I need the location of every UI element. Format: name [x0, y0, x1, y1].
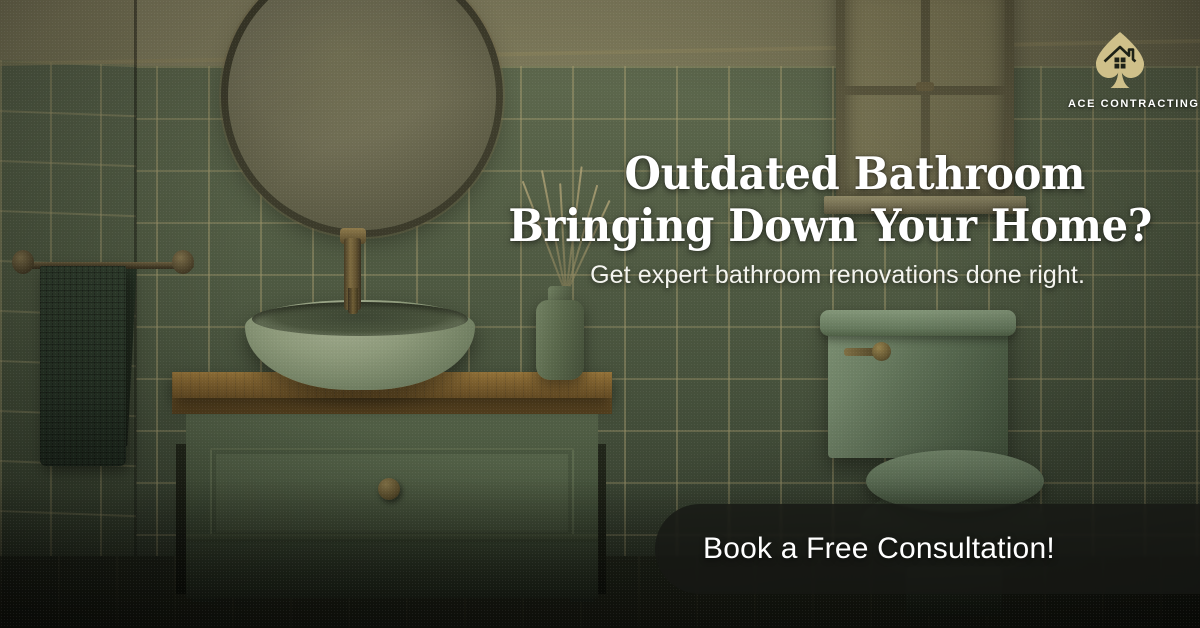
toilet-flush-knob [872, 342, 891, 361]
brand-logo[interactable]: ACE CONTRACTING [1068, 30, 1172, 110]
cta-button[interactable]: Book a Free Consultation! [655, 504, 1200, 594]
toilet-tank [828, 318, 1008, 458]
window-latch [916, 82, 934, 91]
spade-house-logo-icon [1092, 30, 1148, 92]
subheadline: Get expert bathroom renovations done rig… [465, 261, 1085, 290]
cta-button-label: Book a Free Consultation! [703, 532, 1055, 566]
countertop-edge [172, 396, 612, 414]
ad-creative-banner: ACE CONTRACTING Outdated Bathroom Bringi… [0, 0, 1200, 628]
hanging-towel [40, 266, 126, 466]
towel-bar-post-left [12, 250, 34, 274]
copy-block: Outdated Bathroom Bringing Down Your Hom… [465, 148, 1085, 290]
ceramic-vase [536, 300, 584, 380]
headline-line-1: Outdated Bathroom [508, 148, 1085, 200]
toilet-tank-lid [820, 310, 1016, 336]
brand-wordmark: ACE CONTRACTING [1068, 98, 1172, 110]
faucet-spout [348, 288, 358, 314]
headline-line-2: Bringing Down Your Home? [508, 200, 1085, 252]
towel-bar-post-right [172, 250, 194, 274]
